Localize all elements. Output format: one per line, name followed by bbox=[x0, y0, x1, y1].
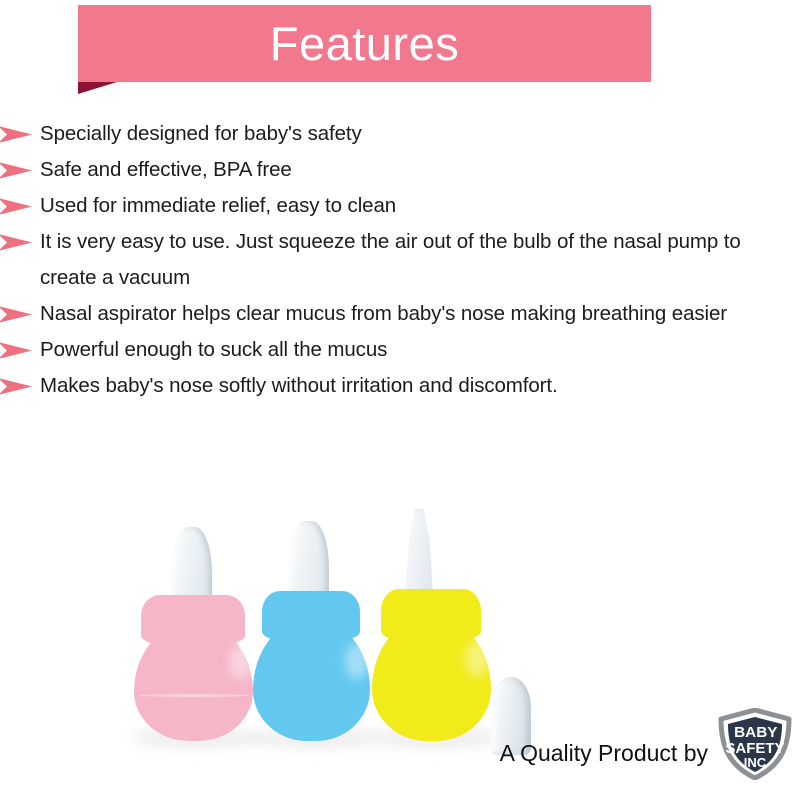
bullet-cell bbox=[0, 188, 40, 215]
logo-line-3: INC bbox=[744, 755, 767, 770]
features-banner: Features bbox=[0, 0, 800, 100]
feature-list: Specially designed for baby's safety Saf… bbox=[0, 116, 790, 404]
arrow-right-triangle-icon bbox=[0, 198, 32, 215]
feature-text: Safe and effective, BPA free bbox=[40, 152, 790, 188]
list-item: Makes baby's nose softly without irritat… bbox=[0, 368, 790, 404]
feature-text: It is very easy to use. Just squeeze the… bbox=[40, 224, 790, 296]
aspirator-tip bbox=[400, 509, 438, 601]
feature-text: Powerful enough to suck all the mucus bbox=[40, 332, 790, 368]
baby-safety-inc-shield-logo: BABY SAFETY INC bbox=[716, 708, 794, 780]
bulb-seam bbox=[138, 694, 249, 697]
list-item: Specially designed for baby's safety bbox=[0, 116, 790, 152]
aspirator-tip bbox=[289, 521, 329, 601]
feature-text: Nasal aspirator helps clear mucus from b… bbox=[40, 296, 790, 332]
bulb-highlight bbox=[465, 641, 489, 677]
bullet-cell bbox=[0, 332, 40, 359]
banner-body: Features bbox=[78, 5, 651, 82]
arrow-right-triangle-icon bbox=[0, 162, 32, 179]
arrow-right-triangle-icon bbox=[0, 306, 32, 323]
bullet-cell bbox=[0, 296, 40, 323]
bullet-cell bbox=[0, 224, 40, 251]
list-item: Safe and effective, BPA free bbox=[0, 152, 790, 188]
list-item: Used for immediate relief, easy to clean bbox=[0, 188, 790, 224]
logo-line-1: BABY bbox=[734, 724, 777, 741]
footer: A Quality Product by BABY SAFETY INC bbox=[0, 714, 800, 786]
arrow-right-triangle-icon bbox=[0, 234, 32, 251]
bullet-cell bbox=[0, 152, 40, 179]
page-title: Features bbox=[270, 20, 459, 67]
aspirator-tip bbox=[172, 527, 212, 605]
feature-text: Specially designed for baby's safety bbox=[40, 116, 790, 152]
bulb-highlight bbox=[229, 645, 253, 679]
bullet-cell bbox=[0, 368, 40, 395]
bullet-cell bbox=[0, 116, 40, 143]
arrow-right-triangle-icon bbox=[0, 342, 32, 359]
list-item: Nasal aspirator helps clear mucus from b… bbox=[0, 296, 790, 332]
arrow-right-triangle-icon bbox=[0, 378, 32, 395]
feature-text: Makes baby's nose softly without irritat… bbox=[40, 368, 790, 404]
quality-tagline: A Quality Product by bbox=[500, 740, 708, 767]
bulb-highlight bbox=[345, 643, 369, 679]
list-item: It is very easy to use. Just squeeze the… bbox=[0, 224, 790, 296]
feature-text: Used for immediate relief, easy to clean bbox=[40, 188, 790, 224]
arrow-right-triangle-icon bbox=[0, 126, 32, 143]
list-item: Powerful enough to suck all the mucus bbox=[0, 332, 790, 368]
